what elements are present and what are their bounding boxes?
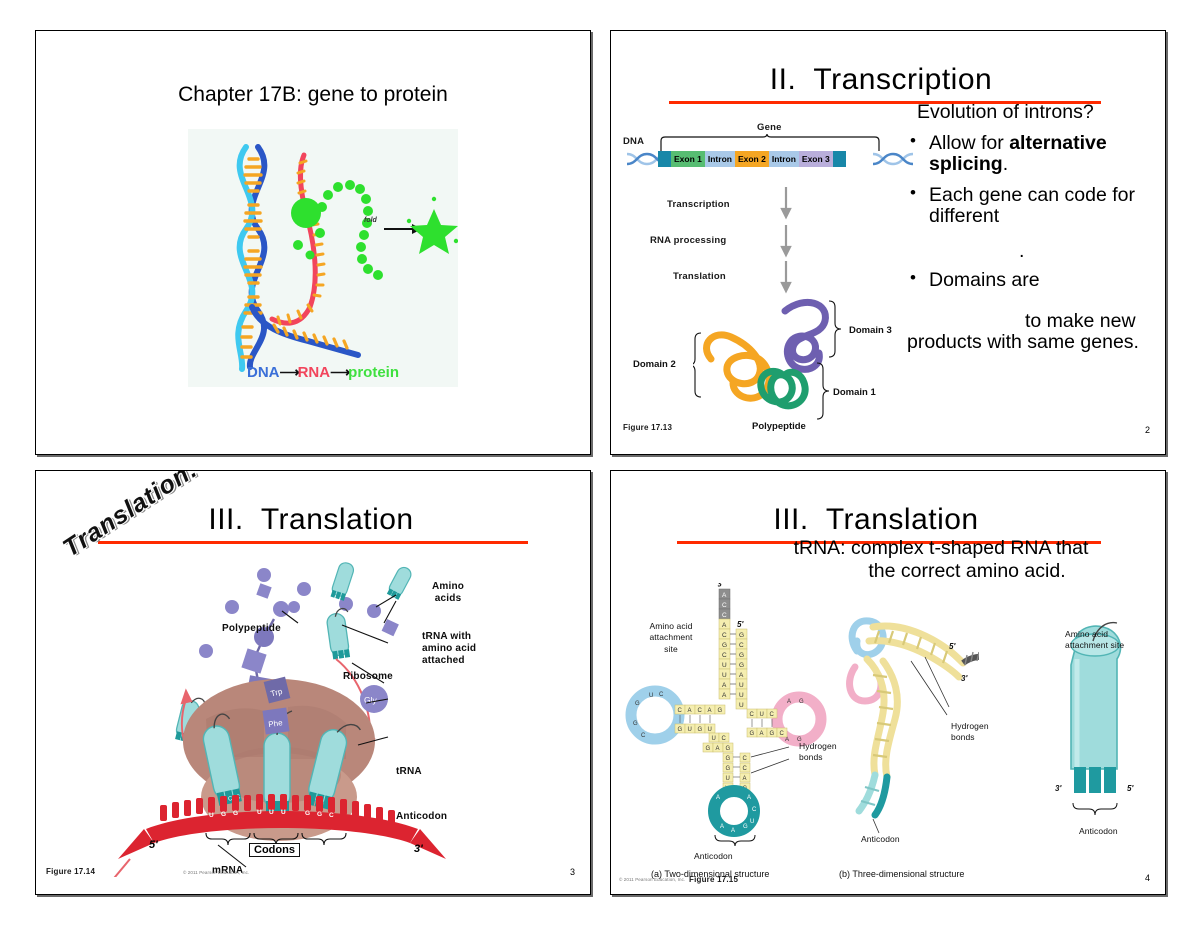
svg-text:A: A <box>716 795 720 801</box>
svg-text:A: A <box>785 737 789 743</box>
slide-3-credit: © 2011 Pearson Education, Inc. <box>183 870 249 875</box>
polypeptide-domains-figure <box>693 289 875 431</box>
svg-text:G: G <box>305 810 310 817</box>
trna-with-amino-acid-label: tRNA with amino acid attached <box>422 631 476 667</box>
gene-segment-exon-1: Exon 1 <box>671 151 705 167</box>
gene-segment-intron-2: Intron <box>769 151 799 167</box>
dna-helix-icon <box>238 147 264 369</box>
amino-acid-attachment-site-label-right: Amino acid attachment site <box>1065 629 1124 652</box>
svg-text:C: C <box>722 602 727 609</box>
central-dogma-svg <box>188 129 458 387</box>
svg-text:C: C <box>678 708 683 714</box>
svg-text:G: G <box>726 756 731 762</box>
slide-2-figure-label: Figure 17.13 <box>623 423 672 432</box>
flow-arrow-1: ⟶ <box>280 364 298 380</box>
gene-segment-dna-left <box>658 151 671 167</box>
svg-text:C: C <box>743 756 748 762</box>
anticodon-label: Anticodon <box>396 811 447 823</box>
slide-4[interactable]: III. Translation tRNA: complex t-shaped … <box>610 470 1166 895</box>
translation-figure: A C C Trp <box>36 547 591 877</box>
svg-text:C: C <box>752 807 757 813</box>
gene-bracket <box>659 134 881 152</box>
svg-text:5': 5' <box>1127 784 1134 793</box>
slide-4-subtitle: tRNA: complex t-shaped RNA that the corr… <box>731 537 1151 583</box>
slide-3-page-number: 3 <box>570 867 575 877</box>
svg-text:U: U <box>708 727 712 733</box>
svg-text:U: U <box>739 702 744 709</box>
gene-label: Gene <box>757 122 782 133</box>
svg-text:C: C <box>659 692 664 698</box>
bullet-item-2: Each gene can code for different . <box>907 185 1159 262</box>
slide-2-page-number: 2 <box>1145 425 1150 435</box>
polypeptide-label: Polypeptide <box>752 421 806 432</box>
central-dogma-figure: fold DNA⟶RNA⟶protein <box>188 129 458 387</box>
svg-text:U: U <box>739 692 744 699</box>
anticodon-stem: U C G A G G G U \u00b7 C C A G <box>703 733 750 792</box>
amino-acid-attachment-site-label-left: Amino acid attachment site <box>629 621 713 655</box>
ribosome-label: Ribosome <box>343 671 393 683</box>
hydrogen-bond-leaders <box>751 747 789 773</box>
svg-text:G: G <box>635 701 640 707</box>
svg-text:A: A <box>722 622 727 629</box>
svg-text:G: G <box>718 708 723 714</box>
step-rna-processing-label: RNA processing <box>650 235 726 246</box>
flow-arrow-2: ⟶ <box>330 364 348 380</box>
bullet-2-text-before: Each gene can code for different <box>929 184 1135 227</box>
bullet-1-text-after: . <box>1003 153 1008 175</box>
anticodon-prongs <box>1074 767 1116 793</box>
trna-label: tRNA <box>396 766 422 778</box>
step-translation-label: Translation <box>673 271 726 282</box>
svg-text:U: U <box>739 682 744 689</box>
svg-text:C: C <box>722 736 727 742</box>
svg-text:G: G <box>799 699 804 705</box>
svg-text:G: G <box>726 766 731 772</box>
rna-strand <box>272 155 324 324</box>
codons-label: Codons <box>249 843 300 857</box>
svg-text:A: A <box>708 708 712 714</box>
bullet-3-text-before: Domains are <box>929 269 1040 291</box>
svg-text:A: A <box>739 672 744 679</box>
folded-protein-star <box>410 209 458 254</box>
svg-text:G: G <box>722 642 727 649</box>
bullets-heading: Evolution of introns? <box>917 101 1159 124</box>
svg-text:3': 3' <box>1055 784 1062 793</box>
t-arm-hbonds <box>752 719 772 727</box>
svg-text:C: C <box>770 712 775 718</box>
slide-2[interactable]: II. Transcription DNA Gene Exon 1 Intron… <box>610 30 1166 455</box>
svg-text:A: A <box>722 682 727 689</box>
svg-text:G: G <box>706 746 711 752</box>
bullet-1-text-before: Allow for <box>929 132 1009 154</box>
svg-text:G: G <box>750 731 755 737</box>
slide-1[interactable]: Chapter 17B: gene to protein <box>35 30 591 455</box>
trna-icon-figure: 3' 5' <box>1031 619 1161 849</box>
flow-rna-label: RNA <box>298 364 331 381</box>
svg-text:A: A <box>722 692 727 699</box>
slide-4-title: III. Translation <box>641 503 1111 537</box>
svg-text:5': 5' <box>949 642 956 651</box>
acceptor-hbonds <box>730 634 736 694</box>
svg-text:G: G <box>221 811 226 818</box>
slide-4-page-number: 4 <box>1145 873 1150 883</box>
hydrogen-bonds-label-3d: Hydrogen bonds <box>951 721 989 744</box>
slide-4-credit: © 2011 Pearson Education, Inc. <box>619 877 685 882</box>
gene-segment-exon-3: Exon 3 <box>799 151 833 167</box>
bullet-2-text-after: . <box>929 241 1159 262</box>
handout-page: Chapter 17B: gene to protein <box>0 0 1200 927</box>
subtitle-line-2: the correct amino acid. <box>731 560 1151 583</box>
gene-segment-dna-right <box>833 151 846 167</box>
mrna-3-prime-label: 3' <box>414 843 423 855</box>
gene-segment-exon-2: Exon 2 <box>735 151 769 167</box>
bullet-item-3: Domains are to make new products with sa… <box>907 270 1159 353</box>
svg-text:G: G <box>726 746 731 752</box>
svg-text:5': 5' <box>737 620 744 629</box>
svg-text:U: U <box>281 809 286 816</box>
svg-text:U: U <box>760 712 764 718</box>
anticodon-loop: AA CU AAG <box>714 791 757 834</box>
svg-text:G: G <box>633 721 638 727</box>
svg-text:A: A <box>760 731 764 737</box>
anticodon-label-b: Anticodon <box>861 834 900 845</box>
svg-text:A: A <box>720 824 724 830</box>
domain-1-label: Domain 1 <box>833 387 876 398</box>
svg-text:U: U <box>722 672 727 679</box>
svg-text:U: U <box>688 727 692 733</box>
dna-label: DNA <box>623 136 644 147</box>
mrna-5-prime-label: 5' <box>149 839 158 851</box>
svg-text:G: G <box>233 810 238 817</box>
svg-text:3': 3' <box>716 583 726 589</box>
polypeptide-chain <box>317 180 383 280</box>
domain-3-label: Domain 3 <box>849 325 892 336</box>
svg-text:A: A <box>731 828 735 834</box>
process-arrows-icon <box>779 175 793 305</box>
hydrogen-bonds-label-left: Hydrogen bonds <box>799 741 837 764</box>
svg-text:G: G <box>739 632 744 639</box>
svg-text:A: A <box>743 776 747 782</box>
polypeptide-label: Polypeptide <box>222 623 281 635</box>
bullet-3-text-after: to make new products with same genes. <box>907 311 1159 353</box>
svg-text:C: C <box>743 766 748 772</box>
slide-2-bullet-list: Evolution of introns? Allow for alternat… <box>907 101 1159 363</box>
svg-text:A: A <box>722 592 727 599</box>
slide-1-title: Chapter 17B: gene to protein <box>36 83 590 107</box>
slide-3[interactable]: III. Translation Translation: <box>35 470 591 895</box>
svg-text:A: A <box>688 708 692 714</box>
acceptor-stem-right: G C G G A U U U <box>736 629 747 709</box>
svg-text:G: G <box>770 731 775 737</box>
svg-text:U: U <box>257 809 262 816</box>
svg-text:A: A <box>747 795 751 801</box>
svg-text:C: C <box>750 712 755 718</box>
svg-text:U: U <box>209 812 214 819</box>
svg-text:G: G <box>698 727 703 733</box>
flow-dna-label: DNA <box>247 364 280 381</box>
step-transcription-label: Transcription <box>667 199 730 210</box>
svg-text:C: C <box>739 642 744 649</box>
slide-3-title-rule <box>98 541 528 544</box>
svg-text:G: G <box>743 824 748 830</box>
d-arm-hbonds <box>680 715 710 723</box>
svg-text:C: C <box>722 612 727 619</box>
acceptor-end: A C C <box>719 589 730 619</box>
svg-text:G: G <box>317 811 322 818</box>
slide-4-figure-label: Figure 17.15 <box>689 875 738 884</box>
domain-2-label: Domain 2 <box>633 359 676 370</box>
svg-text:C: C <box>698 708 703 714</box>
flow-protein-label: protein <box>348 364 399 381</box>
svg-text:Gly: Gly <box>364 695 378 705</box>
svg-text:3': 3' <box>961 674 968 683</box>
anticodon-bracket-icon <box>1073 803 1117 815</box>
svg-text:U: U <box>269 809 274 816</box>
anticodon-label-c: Anticodon <box>1079 826 1118 837</box>
d-arm-loop: UC GG C <box>631 691 679 739</box>
svg-text:A: A <box>787 699 791 705</box>
ribosome-blob <box>291 198 321 228</box>
svg-text:G: G <box>739 662 744 669</box>
svg-text:A: A <box>716 746 720 752</box>
bullet-3-blank <box>929 291 1159 311</box>
central-dogma-flow: DNA⟶RNA⟶protein <box>188 364 458 381</box>
slide-2-title: II. Transcription <box>651 63 1111 97</box>
fold-label: fold <box>364 217 377 224</box>
caption-b: (b) Three-dimensional structure <box>839 869 964 879</box>
amino-acids-label: Amino acids <box>432 581 464 605</box>
mrna-direction-arrow <box>102 859 130 877</box>
bullet-item-1: Allow for alternative splicing. <box>907 133 1159 175</box>
free-amino-acids <box>199 568 399 658</box>
svg-text:U: U <box>726 776 730 782</box>
subtitle-line-1: tRNA: complex t-shaped RNA that <box>794 537 1089 559</box>
anticodon-stem-hbonds <box>733 757 740 787</box>
svg-text:G: G <box>678 727 683 733</box>
slide-3-figure-label: Figure 17.14 <box>46 867 95 876</box>
svg-text:C: C <box>329 812 334 819</box>
svg-text:G: G <box>739 652 744 659</box>
svg-text:C: C <box>722 652 727 659</box>
anticodon-label-a: Anticodon <box>694 851 733 862</box>
svg-text:C: C <box>722 632 727 639</box>
svg-text:C: C <box>780 731 785 737</box>
svg-text:U: U <box>750 819 754 825</box>
svg-text:U: U <box>649 693 653 699</box>
svg-text:C: C <box>641 733 646 739</box>
svg-text:U: U <box>712 736 716 742</box>
svg-text:U: U <box>722 662 727 669</box>
gene-segment-intron-1: Intron <box>705 151 735 167</box>
gene-bar: Exon 1 Intron Exon 2 Intron Exon 3 <box>658 151 846 167</box>
acceptor-stem-left: A C G C U U A A <box>719 619 730 699</box>
anticodon-leader-3d <box>873 819 879 833</box>
